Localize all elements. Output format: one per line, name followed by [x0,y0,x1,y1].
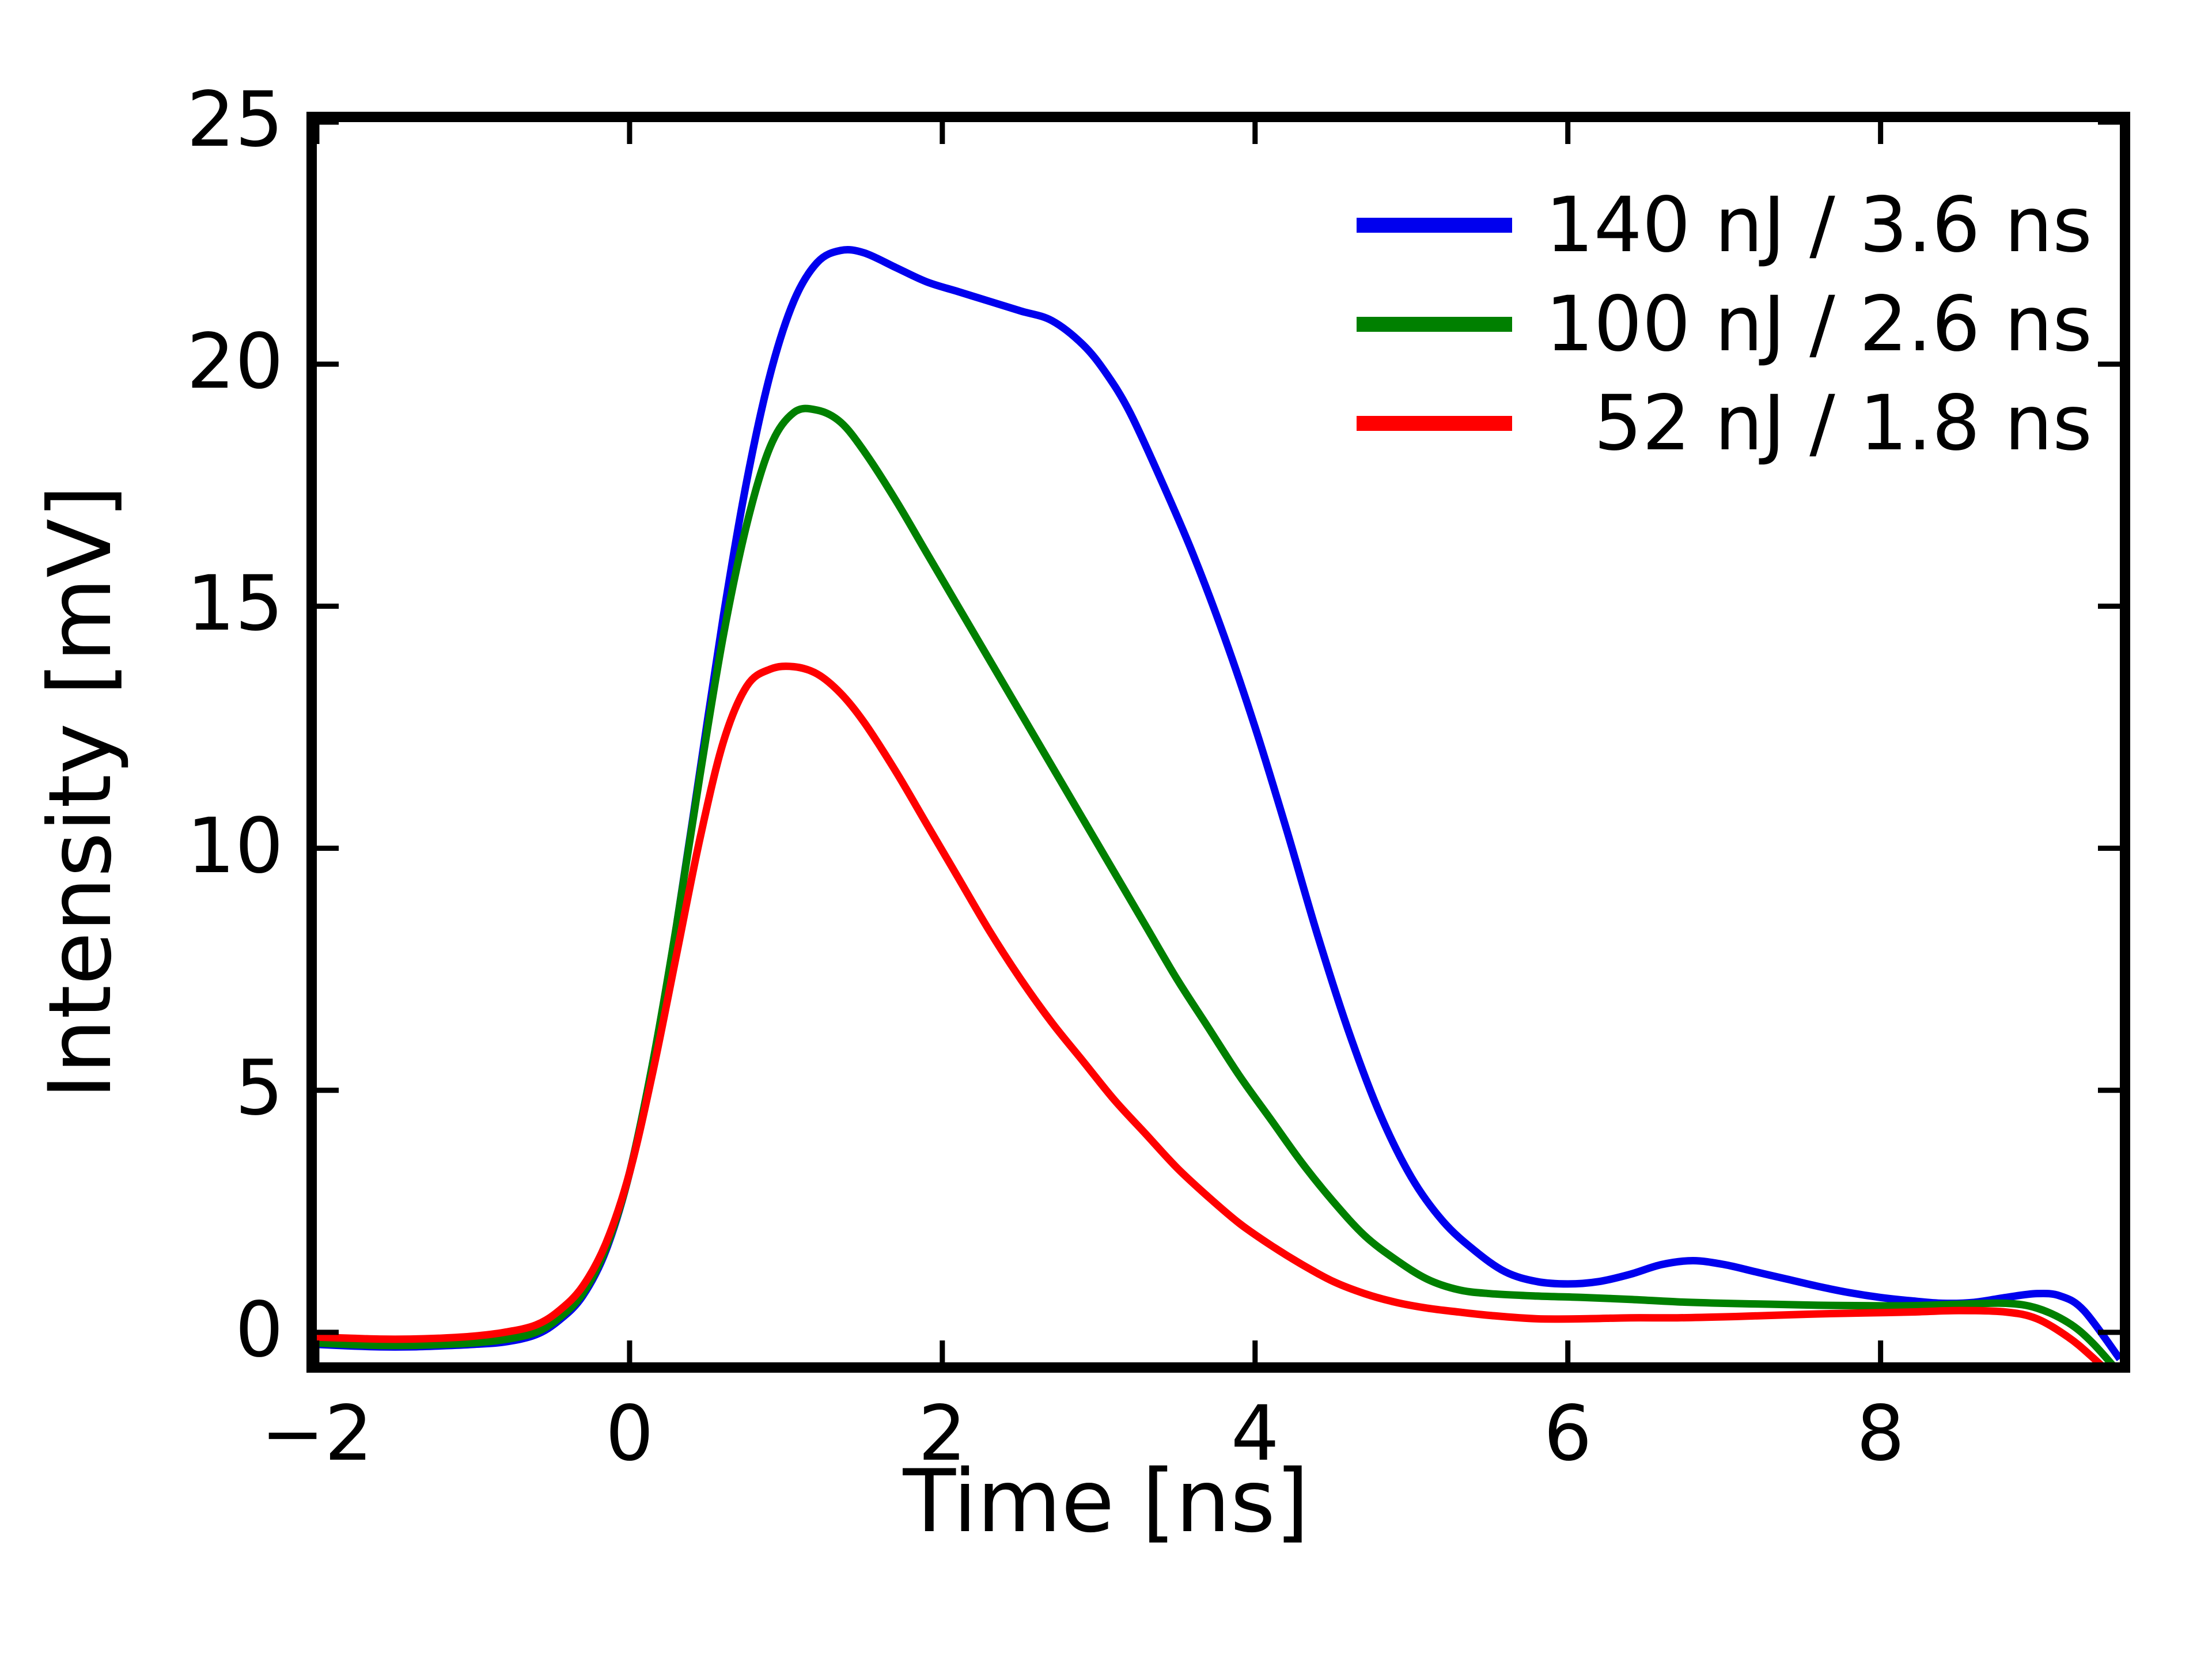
x-tick-0 [315,1340,320,1362]
axis-spine-bottom [306,1362,2130,1373]
y-tick-3 [317,604,339,609]
series-line-2 [317,408,2120,1373]
y-tick-right-1 [2098,1088,2120,1093]
y-tick-right-4 [2098,362,2120,367]
legend-swatch-3 [1357,416,1512,431]
figure-canvas: 0510152025 −202468 Time [ns] Intensity [… [0,0,2212,1659]
x-tick-top-1 [627,122,632,144]
axis-spine-left [306,112,317,1373]
y-axis-title: Intensity [mV] [31,158,131,1426]
y-tick-5 [317,120,339,125]
y-tick-right-2 [2098,846,2120,851]
y-tick-right-0 [2098,1330,2120,1335]
axis-spine-top [306,112,2130,122]
legend-item-3[interactable]: 52 nJ / 1.8 ns [1357,374,2097,473]
y-tick-0 [317,1330,339,1335]
y-tick-right-3 [2098,604,2120,609]
x-tick-top-5 [1878,122,1883,144]
legend-swatch-2 [1357,317,1512,332]
y-tick-2 [317,846,339,851]
x-tick-top-0 [315,122,320,144]
y-tick-4 [317,362,339,367]
x-tick-5 [1878,1340,1883,1362]
legend-label-2: 100 nJ / 2.6 ns [1512,280,2097,369]
y-tick-right-5 [2098,120,2120,125]
x-tick-top-4 [1565,122,1570,144]
y-tick-label-5: 25 [65,82,283,158]
legend-swatch-1 [1357,218,1512,233]
x-tick-2 [940,1340,945,1362]
legend: 140 nJ / 3.6 ns100 nJ / 2.6 ns52 nJ / 1.… [1357,176,2097,473]
x-tick-4 [1565,1340,1570,1362]
x-tick-3 [1252,1340,1257,1362]
legend-label-3: 52 nJ / 1.8 ns [1512,379,2097,468]
series-line-3 [317,666,2120,1384]
legend-item-2[interactable]: 100 nJ / 2.6 ns [1357,275,2097,374]
axis-spine-right [2120,112,2130,1373]
x-axis-title: Time [ns] [0,1452,2212,1552]
x-tick-top-3 [1252,122,1257,144]
x-tick-top-2 [940,122,945,144]
y-tick-1 [317,1088,339,1093]
legend-label-1: 140 nJ / 3.6 ns [1512,181,2097,270]
legend-item-1[interactable]: 140 nJ / 3.6 ns [1357,176,2097,275]
x-tick-1 [627,1340,632,1362]
